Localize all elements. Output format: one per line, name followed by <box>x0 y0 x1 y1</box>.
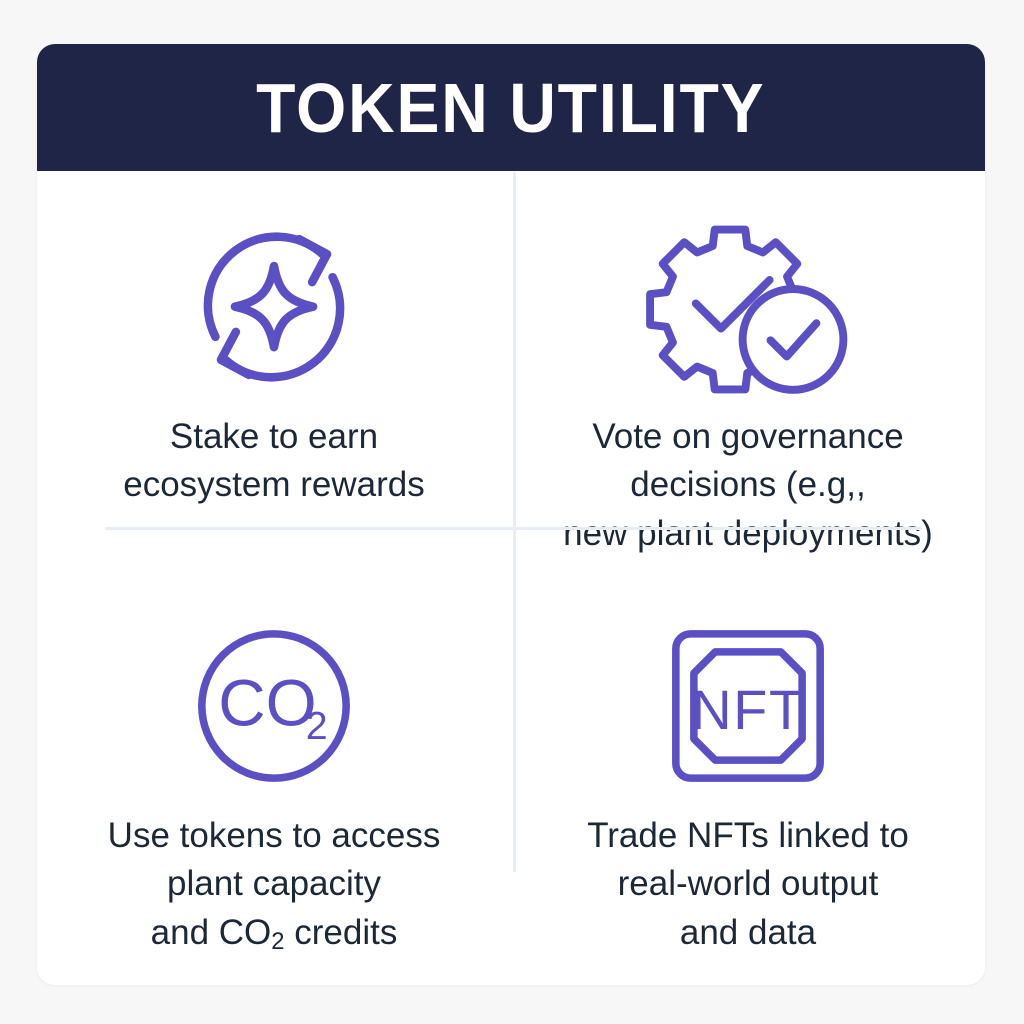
utility-caption-carbon-credits: Use tokens to accessplant capacityand CO… <box>108 812 441 957</box>
utility-cell-stake: Stake to earn ecosystem rewards <box>37 171 511 578</box>
utility-grid: Stake to earn ecosystem rewards <box>37 171 985 985</box>
co2-circle-icon: CO 2 <box>192 606 356 806</box>
card-header: TOKEN UTILITY <box>37 44 985 171</box>
grid-divider-horizontal <box>105 527 922 530</box>
page-title: TOKEN UTILITY <box>256 73 765 143</box>
utility-caption-governance: Vote on governance decisions (e.g,, new … <box>563 413 933 558</box>
caption-line-1: Use tokens to access <box>108 816 441 855</box>
nft-icon-label: NFT <box>691 679 804 741</box>
gear-check-verified-icon <box>645 207 851 407</box>
caption-line-2: plant capacity <box>167 864 381 903</box>
utility-caption-stake: Stake to earn ecosystem rewards <box>123 413 424 510</box>
utility-cell-governance: Vote on governance decisions (e.g,, new … <box>511 171 985 578</box>
grid-divider-vertical <box>513 172 516 872</box>
utility-caption-nft-trading: Trade NFTs linked to real-world output a… <box>587 812 909 957</box>
co2-icon-label: CO <box>218 667 316 740</box>
utility-cell-nft-trading: NFT Trade NFTs linked to real-world outp… <box>511 578 985 985</box>
nft-badge-icon: NFT <box>666 606 830 806</box>
co2-icon-subscript: 2 <box>306 704 328 748</box>
caption-line-3-pre: and CO <box>151 913 272 952</box>
token-utility-infographic: TOKEN UTILITY Sta <box>0 0 1024 1024</box>
caption-line-3-subscript: 2 <box>271 928 284 955</box>
stake-refresh-sparkle-icon <box>181 207 367 407</box>
utility-cell-carbon-credits: CO 2 Use tokens to accessplant capacitya… <box>37 578 511 985</box>
caption-line-3-post: credits <box>285 913 398 952</box>
infographic-card: TOKEN UTILITY Sta <box>37 44 985 985</box>
